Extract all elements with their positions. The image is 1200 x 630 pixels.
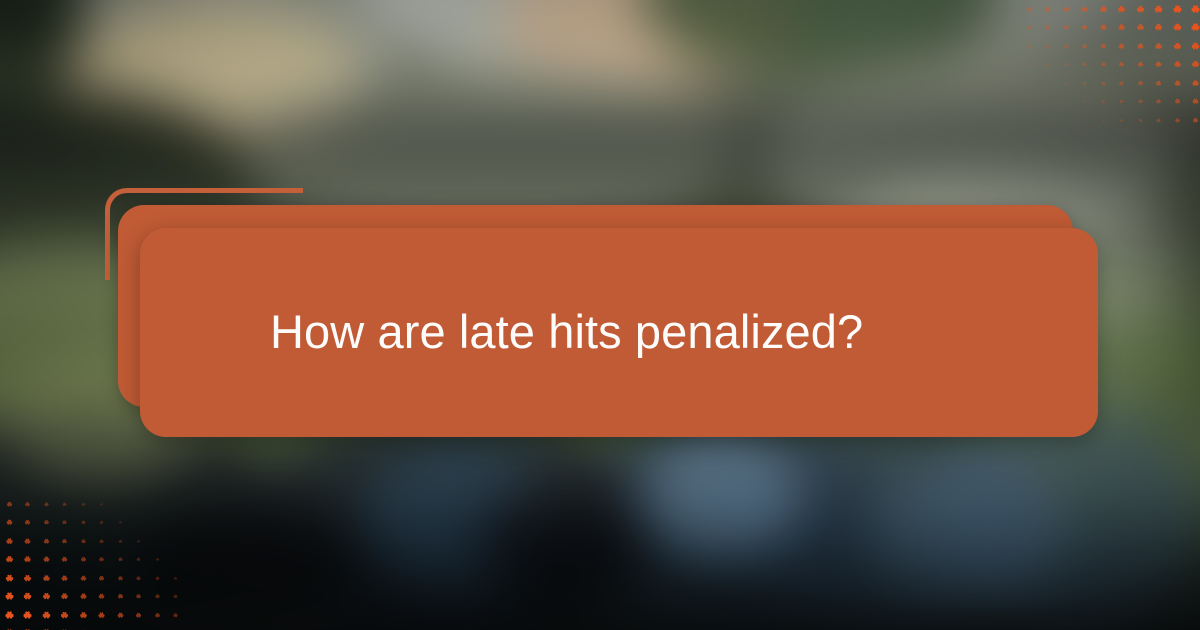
card-title: How are late hits penalized? xyxy=(140,305,919,359)
question-card[interactable]: How are late hits penalized? xyxy=(140,228,1098,437)
social-card-canvas: How are late hits penalized? xyxy=(0,0,1200,630)
